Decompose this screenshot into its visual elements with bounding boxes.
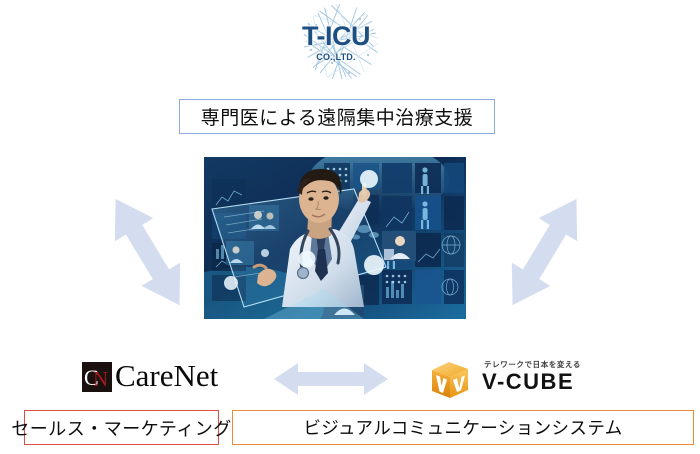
carenet-cn-monogram-icon: C N (82, 362, 112, 392)
caption-visual-communication-text: ビジュアルコミュニケーションシステム (303, 415, 622, 440)
doctor-hologram-photo (204, 157, 466, 319)
arrow-horizontal-icon (272, 360, 390, 398)
caption-box-sales-marketing: セールス・マーケティング (24, 410, 219, 445)
vcube-cube-icon (428, 361, 472, 399)
headline-text: 専門医による遠隔集中治療支援 (201, 103, 473, 130)
carenet-wordmark: CareNet (115, 359, 218, 393)
ticu-logo: T-ICU CO.,LTD. (280, 3, 392, 85)
ticu-subtitle: CO.,LTD. (280, 53, 392, 62)
ticu-wordmark: T-ICU (280, 23, 392, 50)
carenet-logo: C N CareNet (82, 360, 260, 394)
vcube-logo: テレワークで日本を変える V-CUBE (428, 358, 600, 398)
svg-text:N: N (93, 367, 108, 391)
caption-sales-marketing-text: セールス・マーケティング (11, 415, 232, 441)
arrow-right-diagonal-icon (497, 186, 592, 318)
slide-canvas: T-ICU CO.,LTD. 専門医による遠隔集中治療支援 (0, 0, 700, 454)
headline-box: 専門医による遠隔集中治療支援 (179, 99, 495, 134)
arrow-left-diagonal-icon (100, 186, 195, 318)
vcube-wordmark: V-CUBE (482, 370, 574, 394)
caption-box-visual-communication: ビジュアルコミュニケーションシステム (232, 410, 694, 445)
